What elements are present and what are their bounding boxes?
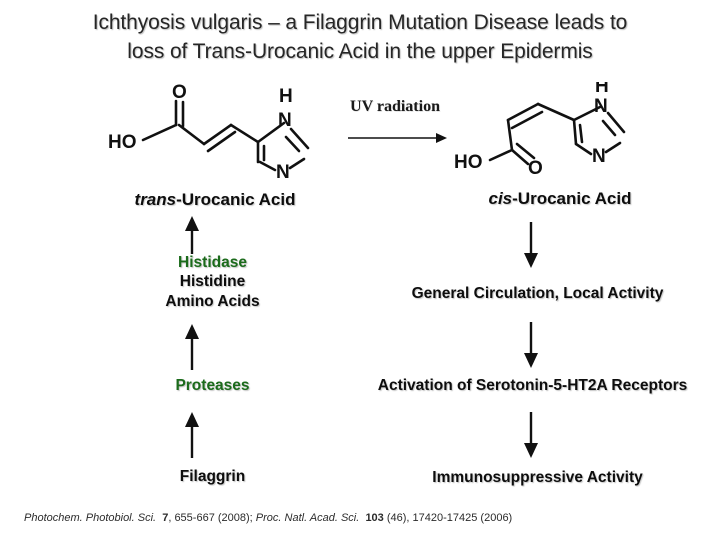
trans-urocanic-acid-structure: HO O H N N [100, 82, 335, 182]
node-histidine: Histidine [105, 272, 320, 291]
cis-carbonyl-oxygen-label: O [528, 158, 543, 179]
arrow-up-filaggrin-to-proteases [183, 412, 201, 463]
citation-footer: Photochem. Photobiol. Sci. 7, 655-667 (2… [24, 512, 512, 524]
node-general-circulation: General Circulation, Local Activity [355, 284, 720, 303]
cis-urocanic-acid-structure: HO O H N N [448, 82, 663, 182]
trans-ring-n-label: N [276, 162, 290, 182]
trans-urocanic-acid-skeletal-svg: HO O H N N [100, 82, 335, 182]
cis-name: -Urocanic Acid [512, 189, 631, 208]
arrow-down-cis-to-circulation [522, 222, 540, 273]
node-histidase: Histidase [105, 253, 320, 272]
cis-prefix: cis [489, 189, 513, 208]
trans-hydroxyl-label: HO [108, 132, 137, 153]
node-serotonin-receptors: Activation of Serotonin-5-HT2A Receptors [345, 376, 720, 395]
page-title-line-1: Ichthyosis vulgaris – a Filaggrin Mutati… [0, 8, 720, 37]
cis-urocanic-acid-caption: cis-Urocanic Acid [400, 189, 720, 209]
node-amino-acids: Amino Acids [105, 292, 320, 311]
cis-ring-nh-label: N [594, 96, 608, 117]
reaction-arrow [325, 130, 465, 151]
trans-urocanic-acid-caption: trans-Urocanic Acid [0, 190, 430, 210]
arrow-up-proteases-to-aminoacids [183, 324, 201, 375]
trans-prefix: trans [135, 190, 177, 209]
citation-journal-2: Proc. Natl. Acad. Sci. [256, 512, 360, 524]
page-title-line-2: loss of Trans-Urocanic Acid in the upper… [0, 37, 720, 66]
citation-pages-1: , 655-667 (2008); [168, 512, 255, 524]
arrow-down-circulation-to-activation [522, 322, 540, 373]
arrow-down-activation-to-immunosuppression [522, 412, 540, 463]
citation-volume-2: 103 [365, 512, 383, 524]
trans-ring-nh-hydrogen-label: H [279, 86, 293, 107]
page-title: Ichthyosis vulgaris – a Filaggrin Mutati… [0, 8, 720, 66]
trans-name: -Urocanic Acid [176, 190, 295, 209]
cis-ring-nh-hydrogen-label: H [595, 82, 609, 97]
uv-radiation-condition: UV radiation [325, 98, 465, 151]
citation-pages-2: (46), 17420-17425 (2006) [384, 512, 512, 524]
citation-journal-1: Photochem. Photobiol. Sci. [24, 512, 156, 524]
node-immunosuppressive-activity: Immunosuppressive Activity [355, 468, 720, 487]
node-proteases: Proteases [105, 376, 320, 395]
uv-radiation-label: UV radiation [325, 98, 465, 116]
cis-ring-n-label: N [592, 146, 606, 167]
trans-ring-nh-label: N [278, 110, 292, 131]
trans-carbonyl-oxygen-label: O [172, 82, 187, 103]
cis-urocanic-acid-skeletal-svg: HO O H N N [448, 82, 663, 182]
node-filaggrin: Filaggrin [105, 467, 320, 486]
cis-hydroxyl-label: HO [454, 152, 483, 173]
